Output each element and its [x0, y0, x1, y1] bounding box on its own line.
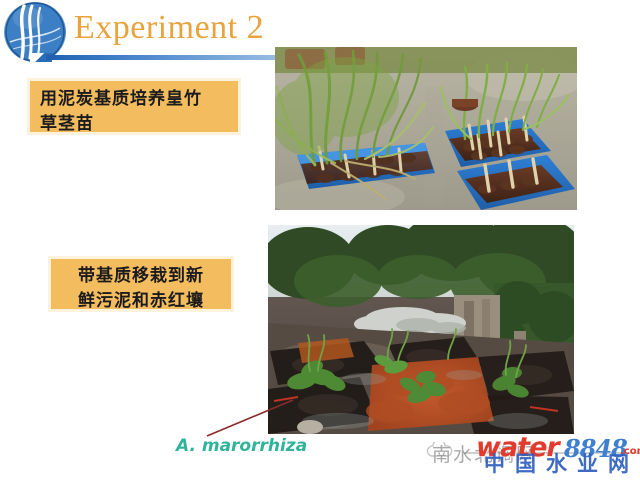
callout-peat-substrate: 用泥炭基质培养皇竹 草茎苗 — [27, 78, 241, 135]
callout-1-line-2: 草茎苗 — [40, 112, 230, 137]
callout-1-line-1: 用泥炭基质培养皇竹 — [40, 87, 230, 112]
slide-root: Experiment 2 用泥炭基质培养皇竹 草茎苗 带基质移栽到新 鲜污泥和赤… — [0, 0, 640, 480]
species-caption: A. marorrhiza — [176, 436, 307, 456]
callout-2-line-1: 带基质移栽到新 — [55, 264, 227, 289]
photo-nursery-trays — [275, 47, 577, 210]
site-watermark: 南水北调网 water 8848 .com 中国水业网 — [424, 432, 640, 478]
photo-field-plots — [268, 225, 574, 434]
callout-2-line-2: 鲜污泥和赤红壤 — [55, 289, 227, 314]
watermark-cn-text: 中国水业网 — [484, 448, 639, 478]
callout-transplant: 带基质移栽到新 鲜污泥和赤红壤 — [48, 256, 234, 312]
page-title: Experiment 2 — [74, 8, 264, 48]
